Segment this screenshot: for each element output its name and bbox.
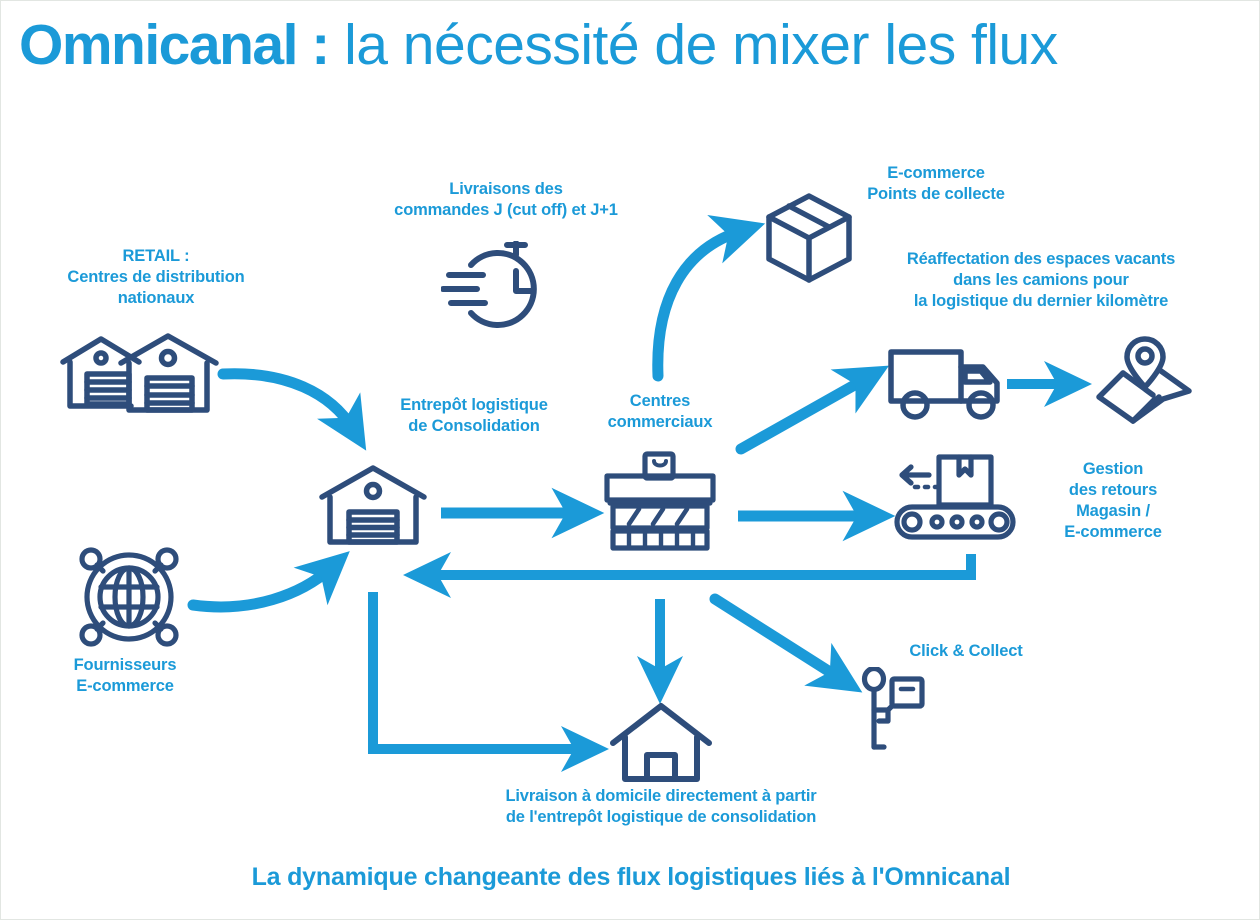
label-shopping-centres: Centres commerciaux <box>575 391 745 433</box>
flow-centres-to-ecommerce-pickup <box>658 231 741 376</box>
label-click-collect: Click & Collect <box>851 641 1081 662</box>
flow-centres-to-click-collect <box>715 599 841 679</box>
label-deliveries: Livraisons des commandes J (cut off) et … <box>371 179 641 221</box>
label-retail: RETAIL : Centres de distribution nationa… <box>21 246 291 309</box>
label-home-delivery: Livraison à domicile directement à parti… <box>401 786 921 828</box>
stopwatch-speed-icon <box>441 241 561 333</box>
globe-network-icon <box>71 539 187 655</box>
map-pin-icon <box>1093 335 1193 427</box>
person-parcel-icon <box>857 667 933 751</box>
flow-suppliers-to-consolidation <box>193 568 331 607</box>
storefront-icon <box>601 451 719 551</box>
parcel-box-3d-icon <box>763 192 855 284</box>
page-title-bold: Omnicanal : <box>19 13 329 77</box>
truck-icon <box>887 345 1005 423</box>
footer-caption: La dynamique changeante des flux logisti… <box>1 863 1260 892</box>
flow-retail-to-consolidation <box>223 374 353 429</box>
page-title: Omnicanal : la nécessité de mixer les fl… <box>19 9 1244 81</box>
infographic-page: Omnicanal : la nécessité de mixer les fl… <box>0 0 1260 920</box>
label-ecommerce-pickup: E-commerce Points de collecte <box>801 163 1071 205</box>
label-returns: Gestion des retours Magasin / E-commerce <box>1023 459 1203 543</box>
conveyor-returns-icon <box>893 449 1017 549</box>
warehouse-double-icon <box>59 326 224 414</box>
flow-returns-to-consolidation <box>426 554 971 575</box>
flow-consolidation-to-home <box>373 592 586 749</box>
label-suppliers: Fournisseurs E-commerce <box>19 655 231 697</box>
warehouse-icon <box>319 464 427 546</box>
label-consolidation: Entrepôt logistique de Consolidation <box>339 395 609 437</box>
house-icon <box>609 701 713 783</box>
flow-centres-to-truck <box>741 378 867 449</box>
page-title-light: la nécessité de mixer les flux <box>329 13 1058 77</box>
label-truck-reallocation: Réaffectation des espaces vacants dans l… <box>881 249 1201 312</box>
